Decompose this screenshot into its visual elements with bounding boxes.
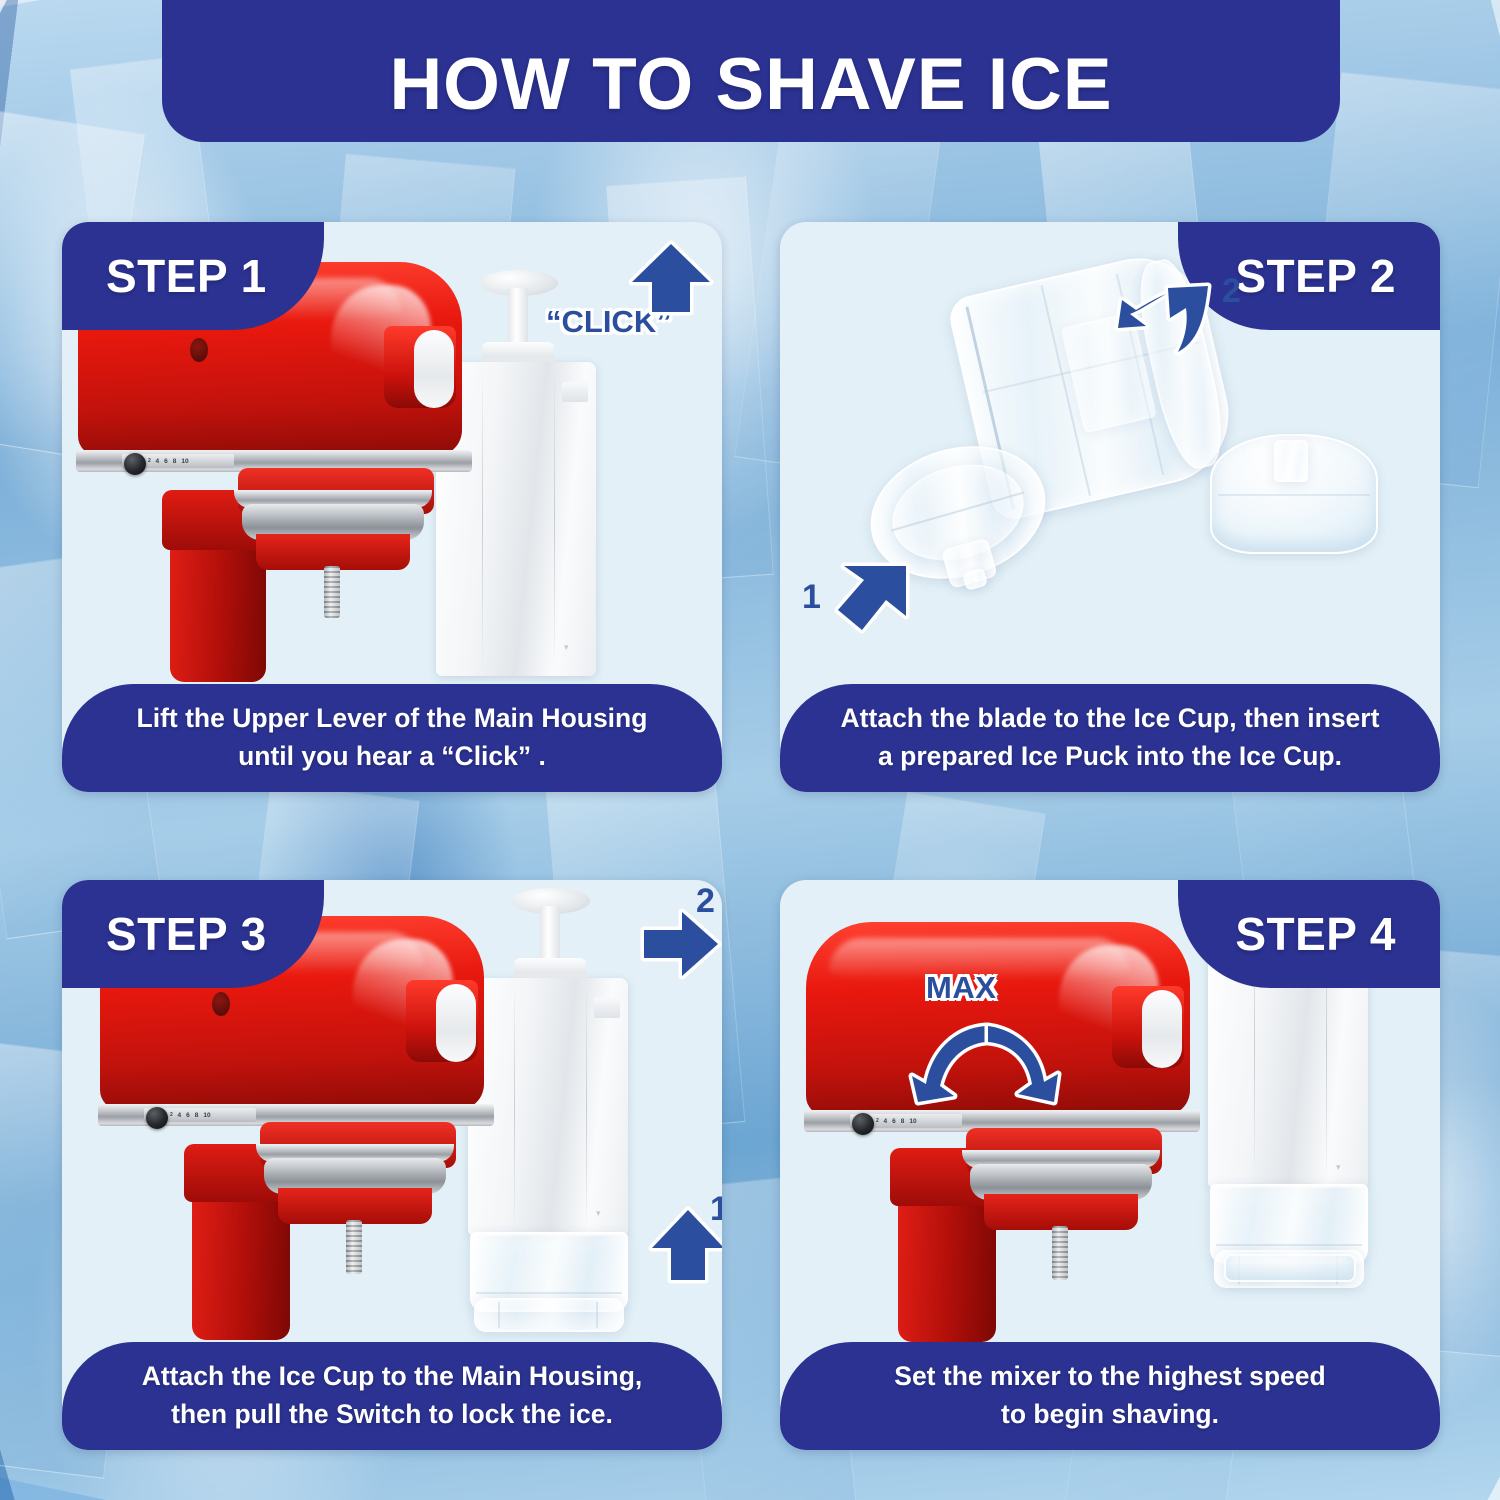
speed-tick-label: 4 <box>177 1112 181 1119</box>
housing-marker-icon: ▾ <box>1336 1162 1341 1173</box>
max-dial-arrow-annotation <box>908 1020 1068 1106</box>
housing-seam <box>514 980 515 1234</box>
caption-line: Lift the Upper Lever of the Main Housing <box>137 700 648 738</box>
attachment-hub-collar <box>414 330 454 408</box>
steps-grid: ▾ 2 4 6 8 10 <box>62 222 1440 1450</box>
attached-ice-cup <box>470 1232 628 1332</box>
ice-puck-part <box>1210 434 1378 560</box>
speed-tick-label: 6 <box>164 458 168 465</box>
speed-tick-label: 4 <box>155 458 159 465</box>
plunger-stem <box>540 906 560 966</box>
mixer-beater-shaft <box>324 566 340 618</box>
caption-line: to begin shaving. <box>1001 1396 1219 1434</box>
step-4-caption: Set the mixer to the highest speed to be… <box>780 1342 1440 1450</box>
step-2-caption: Attach the blade to the Ice Cup, then in… <box>780 684 1440 792</box>
page-title: HOW TO SHAVE ICE <box>389 43 1112 126</box>
caption-line: Attach the Ice Cup to the Main Housing, <box>142 1358 643 1396</box>
speed-tick-label: 4 <box>883 1118 887 1125</box>
speed-tick-label: 2 <box>170 1112 172 1118</box>
mixer-hub-lower <box>278 1188 432 1224</box>
housing-seam <box>554 364 555 674</box>
step-card-4: ▾ 2 4 <box>780 880 1440 1450</box>
attached-ice-cup <box>1210 1184 1368 1290</box>
arrow-up-right-icon <box>828 560 914 642</box>
step-tab-label: STEP 2 <box>1235 249 1396 303</box>
step-3-caption: Attach the Ice Cup to the Main Housing, … <box>62 1342 722 1450</box>
mixer-head-vent <box>212 992 230 1016</box>
housing-seam <box>482 364 483 674</box>
housing-seam <box>586 980 587 1234</box>
speed-tick-label: 8 <box>901 1118 905 1125</box>
step-tab-label: STEP 3 <box>106 907 267 961</box>
step-card-3: ▾ 2 4 <box>62 880 722 1450</box>
arrow-number-label: 2 <box>696 882 715 921</box>
speed-tick-label: 6 <box>892 1118 896 1125</box>
speed-tick-label: 2 <box>148 458 150 464</box>
click-arrow-annotation <box>626 240 716 318</box>
housing-marker-icon: ▾ <box>564 642 569 653</box>
caption-line: until you hear a “Click” . <box>238 738 546 776</box>
mixer-beater-shaft <box>1052 1226 1068 1280</box>
plunger-stem <box>508 288 528 350</box>
mixer-head-vent <box>190 338 208 362</box>
speed-tick-label: 8 <box>173 458 177 465</box>
step-tab-4: STEP 4 <box>1178 880 1440 988</box>
caption-line: Set the mixer to the highest speed <box>894 1358 1325 1396</box>
step-card-2: 1 2 STEP 2 <box>780 222 1440 792</box>
step-tab-label: STEP 1 <box>106 249 267 303</box>
caption-line: Attach the blade to the Ice Cup, then in… <box>841 700 1380 738</box>
speed-tick-label: 10 <box>909 1118 916 1125</box>
housing-switch-tab <box>562 382 588 402</box>
arrow-number-label: 1 <box>710 1190 722 1229</box>
curved-arrow-left-icon <box>1112 280 1224 362</box>
step-1-caption: Lift the Upper Lever of the Main Housing… <box>62 684 722 792</box>
arrow-number-label: 2 <box>1222 272 1241 311</box>
speed-tick-label: 2 <box>876 1118 878 1124</box>
arrow-number-label: 1 <box>802 578 821 617</box>
attachment-hub-collar <box>1142 990 1182 1068</box>
caption-line: a prepared Ice Puck into the Ice Cup. <box>878 738 1342 776</box>
infographic-page: HOW TO SHAVE ICE ▾ <box>0 0 1500 1500</box>
housing-brand-mark <box>62 222 64 229</box>
arrow-2-annotation: 2 <box>1112 280 1224 362</box>
max-label: MAX <box>926 970 996 1006</box>
step-card-1: ▾ 2 4 6 8 10 <box>62 222 722 792</box>
mixer-hub-lower <box>984 1194 1138 1230</box>
housing-switch-tab <box>594 998 620 1018</box>
speed-tick-label: 6 <box>186 1112 190 1119</box>
speed-tick-label: 10 <box>181 458 188 465</box>
attachment-hub-collar <box>436 984 476 1062</box>
mixer-beater-shaft <box>346 1220 362 1274</box>
title-banner: HOW TO SHAVE ICE <box>162 0 1340 142</box>
arrow-1-annotation: 1 <box>828 560 914 642</box>
housing-marker-icon: ▾ <box>596 1208 601 1219</box>
step-tab-label: STEP 4 <box>1235 907 1396 961</box>
mixer-hub-lower <box>256 534 410 570</box>
mixer-speed-knob[interactable] <box>124 453 146 475</box>
shaved-ice <box>1224 1254 1356 1282</box>
mixer-speed-knob[interactable] <box>852 1113 874 1135</box>
mixer-speed-knob[interactable] <box>146 1107 168 1129</box>
speed-tick-label: 10 <box>203 1112 210 1119</box>
speed-tick-label: 8 <box>195 1112 199 1119</box>
arrow-1-annotation: 1 <box>648 1206 722 1286</box>
curved-arrow-to-max-icon <box>908 1020 1068 1106</box>
arrow-up-icon <box>626 240 716 318</box>
caption-line: then pull the Switch to lock the ice. <box>171 1396 613 1434</box>
arrow-2-annotation: 2 <box>638 908 722 980</box>
